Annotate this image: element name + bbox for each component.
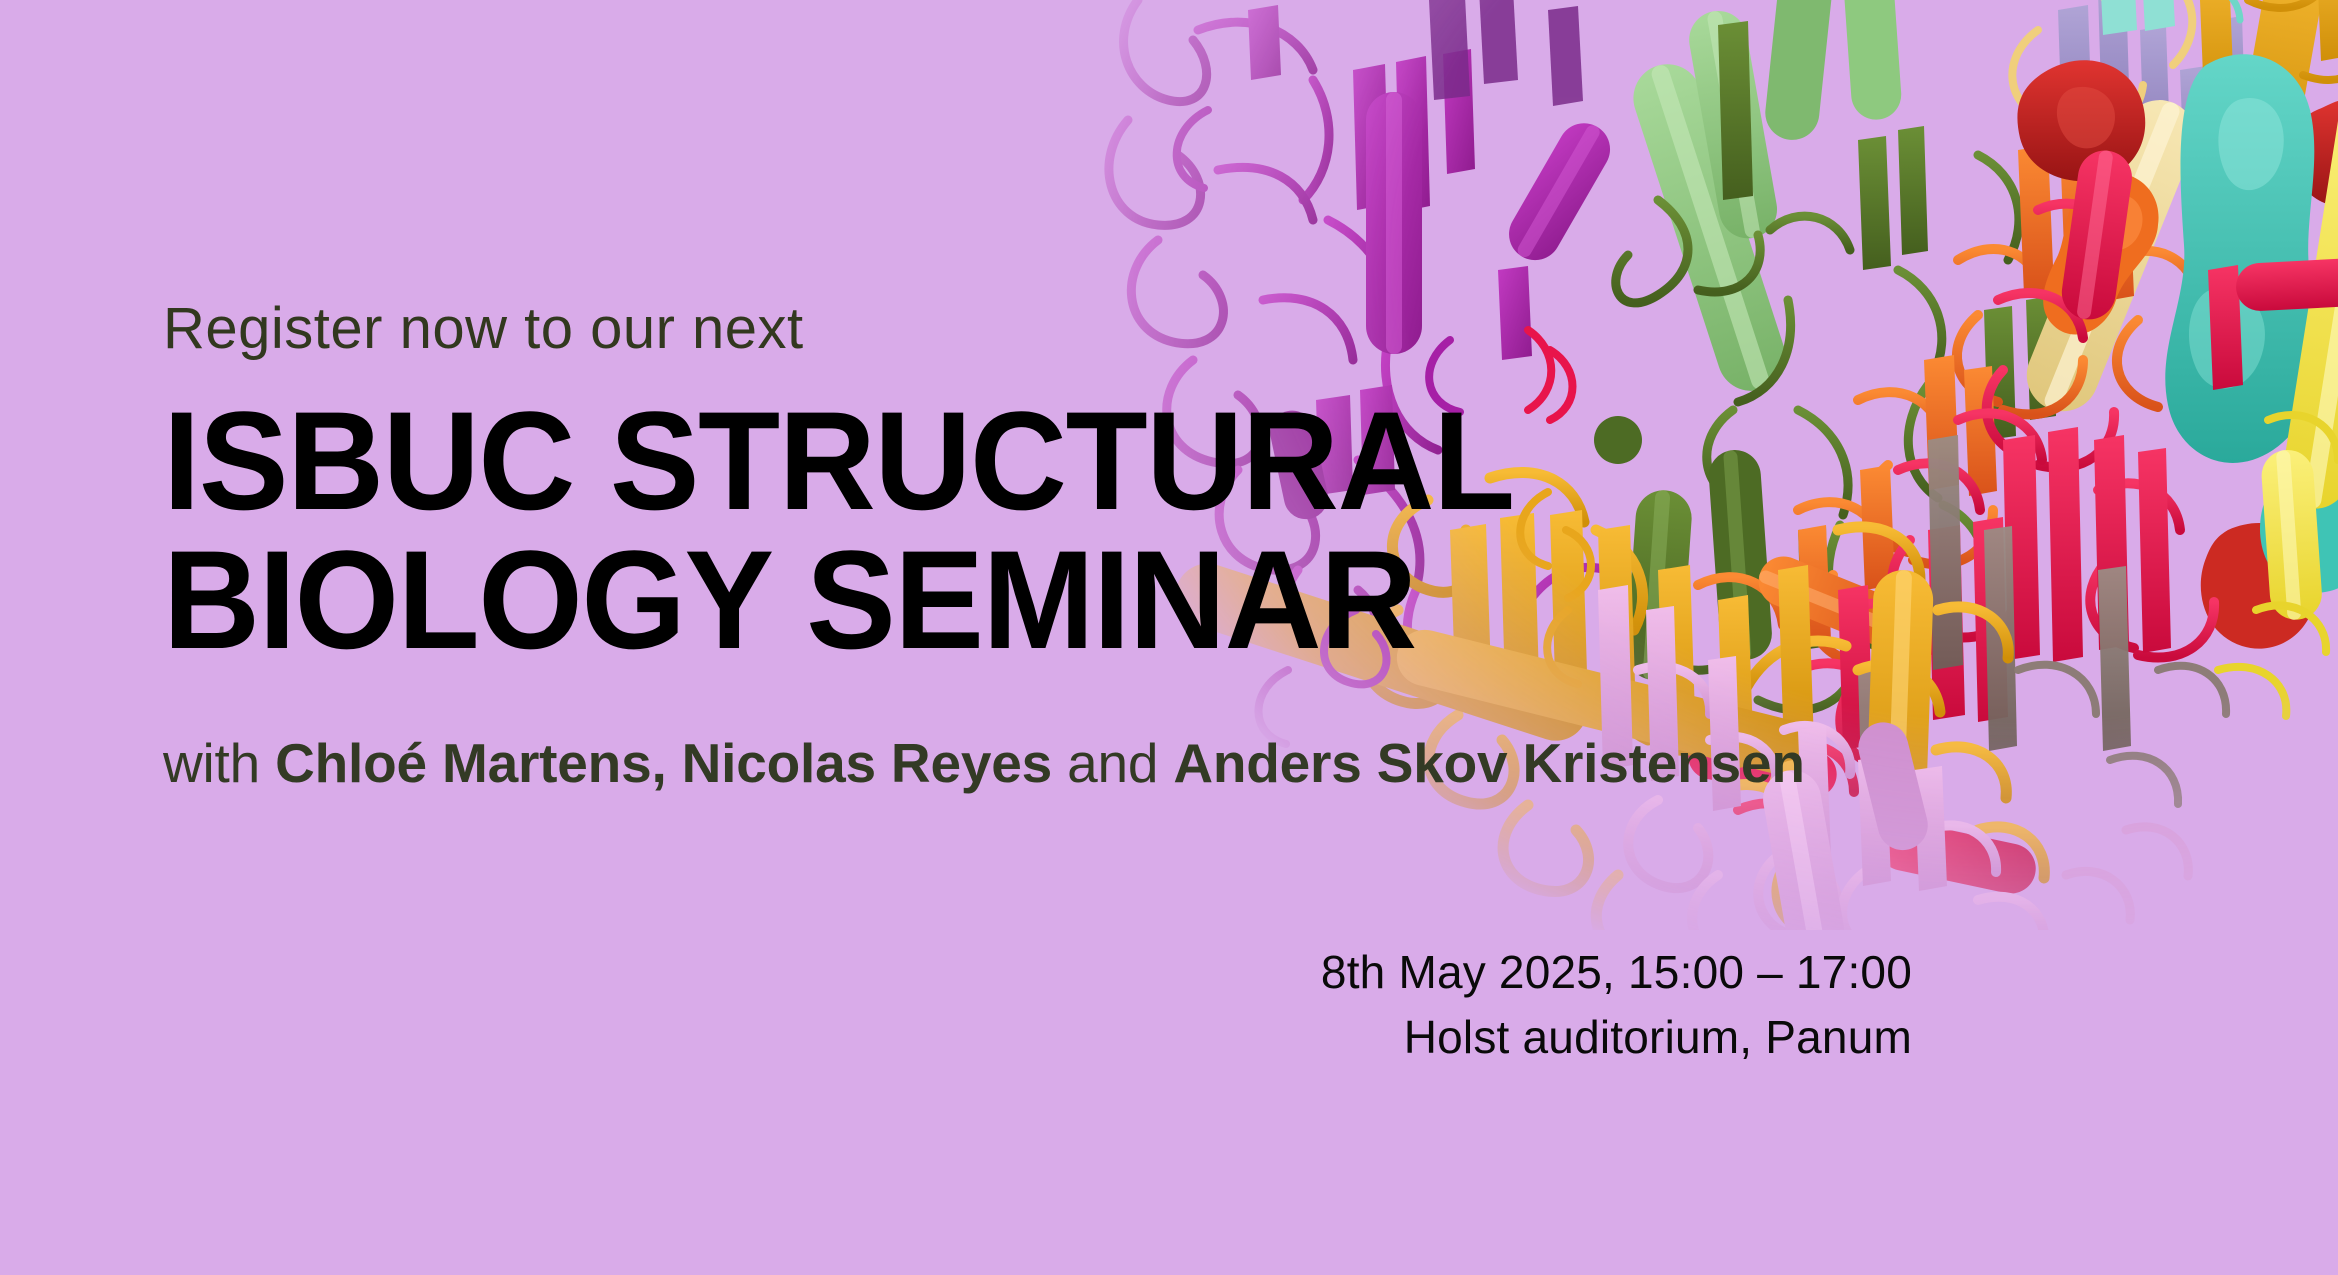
page-title: ISBUC STRUCTURAL BIOLOGY SEMINAR bbox=[163, 392, 1872, 669]
event-datetime: 8th May 2025, 15:00 – 17:00 bbox=[163, 940, 1912, 1005]
event-details: 8th May 2025, 15:00 – 17:00 Holst audito… bbox=[163, 940, 1912, 1071]
speakers-line: with Chloé Martens, Nicolas Reyes and An… bbox=[163, 733, 1943, 794]
poster-kicker: Register now to our next bbox=[163, 300, 1943, 358]
poster-canvas: Register now to our next ISBUC STRUCTURA… bbox=[0, 0, 2338, 1275]
speaker-names-secondary: Anders Skov Kristensen bbox=[1173, 732, 1804, 794]
headline-line-1: ISBUC STRUCTURAL bbox=[163, 392, 1872, 531]
speakers-prefix: with bbox=[163, 732, 275, 794]
speakers-conjunction: and bbox=[1052, 732, 1173, 794]
event-venue: Holst auditorium, Panum bbox=[163, 1005, 1912, 1070]
speaker-names-primary: Chloé Martens, Nicolas Reyes bbox=[275, 732, 1052, 794]
headline-line-2: BIOLOGY SEMINAR bbox=[163, 531, 1872, 670]
poster-text-block: Register now to our next ISBUC STRUCTURA… bbox=[163, 300, 1943, 794]
